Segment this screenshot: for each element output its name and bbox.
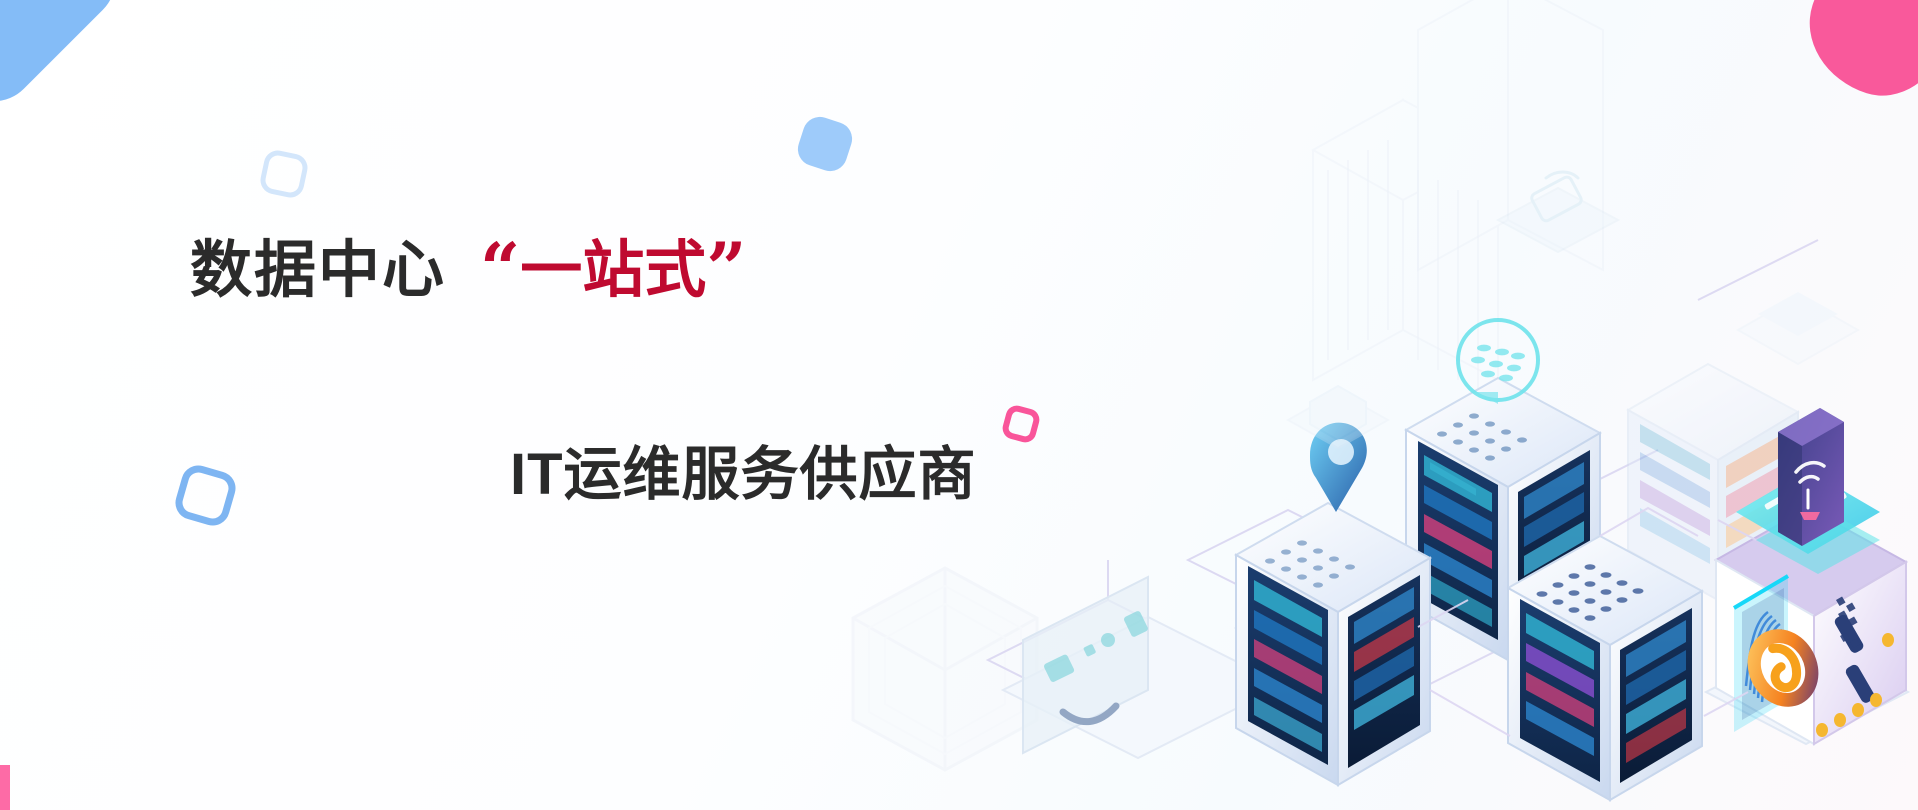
dot-blue-filled bbox=[793, 112, 856, 175]
headline-line1-red-text: 一站式 bbox=[520, 236, 706, 305]
headline-line1-red-phrase: “一站式” bbox=[480, 236, 747, 305]
hero-banner: 数据中心“一站式” IT运维服务供应商 bbox=[0, 0, 1918, 810]
server-rack-front-left bbox=[1236, 423, 1430, 785]
quote-close-mark: ” bbox=[706, 227, 746, 310]
isometric-data-center-illustration bbox=[858, 0, 1918, 810]
corner-blue-rounded-square bbox=[0, 0, 133, 119]
edge-pink-bar bbox=[0, 765, 10, 810]
ring-blue-small bbox=[258, 148, 310, 200]
quote-open-mark: “ bbox=[480, 227, 520, 310]
headline-line1-dark-text: 数据中心 bbox=[190, 236, 446, 305]
